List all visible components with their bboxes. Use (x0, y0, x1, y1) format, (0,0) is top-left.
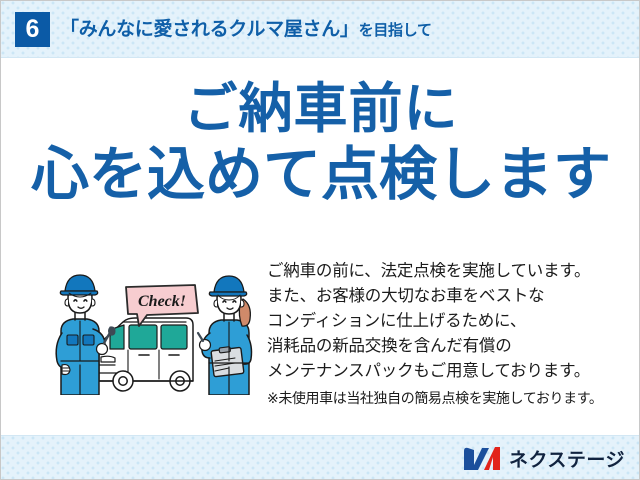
mechanic-right (198, 276, 252, 395)
mechanics-illustration: Check! (53, 269, 261, 395)
header-title-tail: を目指して (359, 22, 432, 39)
body-line: 消耗品の新品交換を含んだ有償の (267, 334, 633, 359)
body-note: ※未使用車は当社独自の簡易点検を実施しております。 (267, 387, 633, 409)
check-bubble-label: Check! (138, 293, 186, 310)
headline-line-1: ご納車前に (1, 79, 640, 139)
body-line: ご納車の前に、法定点検を実施しています。 (267, 259, 633, 284)
body-line: また、お客様の大切なお車をベストな (267, 284, 633, 309)
nexstage-n-icon (462, 446, 502, 471)
section-number-badge: 6 (15, 12, 50, 47)
body-copy: ご納車の前に、法定点検を実施しています。 また、お客様の大切なお車をベストな コ… (267, 259, 633, 409)
headline: ご納車前に 心を込めて点検します (1, 79, 640, 208)
brand-name: ネクステージ (509, 445, 625, 472)
header-title: 「みんなに愛されるクルマ屋さん」を目指して (60, 14, 432, 41)
headline-line-2: 心を込めて点検します (1, 143, 640, 208)
promo-banner: 6 「みんなに愛されるクルマ屋さん」を目指して ご納車前に 心を込めて点検します (0, 0, 640, 480)
body-line: コンディションに仕上げるために、 (267, 309, 633, 334)
brand-logo: ネクステージ (462, 445, 625, 472)
header-title-quoted: 「みんなに愛されるクルマ屋さん」 (60, 19, 359, 40)
banner-header: 6 「みんなに愛されるクルマ屋さん」を目指して (1, 1, 640, 58)
banner-footer: ネクステージ (1, 435, 640, 479)
body-line: メンテナンスパックもご用意しております。 (267, 359, 633, 384)
